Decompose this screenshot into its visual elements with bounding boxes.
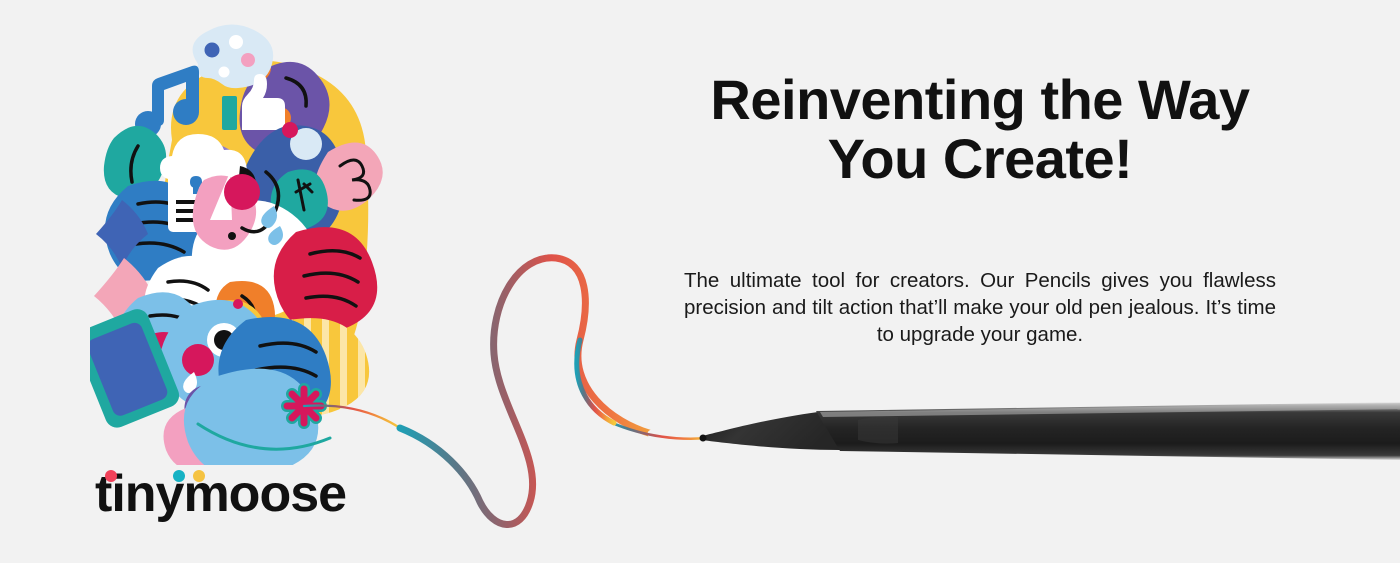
pencil-point — [700, 435, 707, 442]
headline-line-2: You Create! — [828, 127, 1133, 190]
ink-lead-in — [304, 405, 400, 428]
logo-dot-y-left — [173, 470, 185, 482]
page-title: Reinventing the Way You Create! — [660, 70, 1300, 189]
body-paragraph: The ultimate tool for creators. Our Penc… — [684, 267, 1276, 349]
headline-line-1: Reinventing the Way — [710, 68, 1249, 131]
ink-helper — [398, 427, 484, 527]
logo-wordmark: tinymoose — [95, 465, 346, 523]
pencil-facet — [858, 416, 898, 443]
brand-logo[interactable]: tinymoose — [95, 463, 395, 525]
logo-dot-i — [105, 470, 117, 482]
crimson-dot — [282, 122, 298, 138]
copy-block: Reinventing the Way You Create! The ulti… — [660, 70, 1300, 348]
promo-banner: Reinventing the Way You Create! The ulti… — [0, 0, 1400, 563]
pencil-tip — [702, 412, 840, 450]
logo-dot-y-right — [193, 470, 205, 482]
face-dot — [228, 232, 236, 240]
black-stylus — [690, 390, 1400, 480]
small-crimson-dot — [233, 299, 243, 309]
face-cheek — [224, 174, 260, 210]
cheek-crimson — [182, 344, 214, 376]
